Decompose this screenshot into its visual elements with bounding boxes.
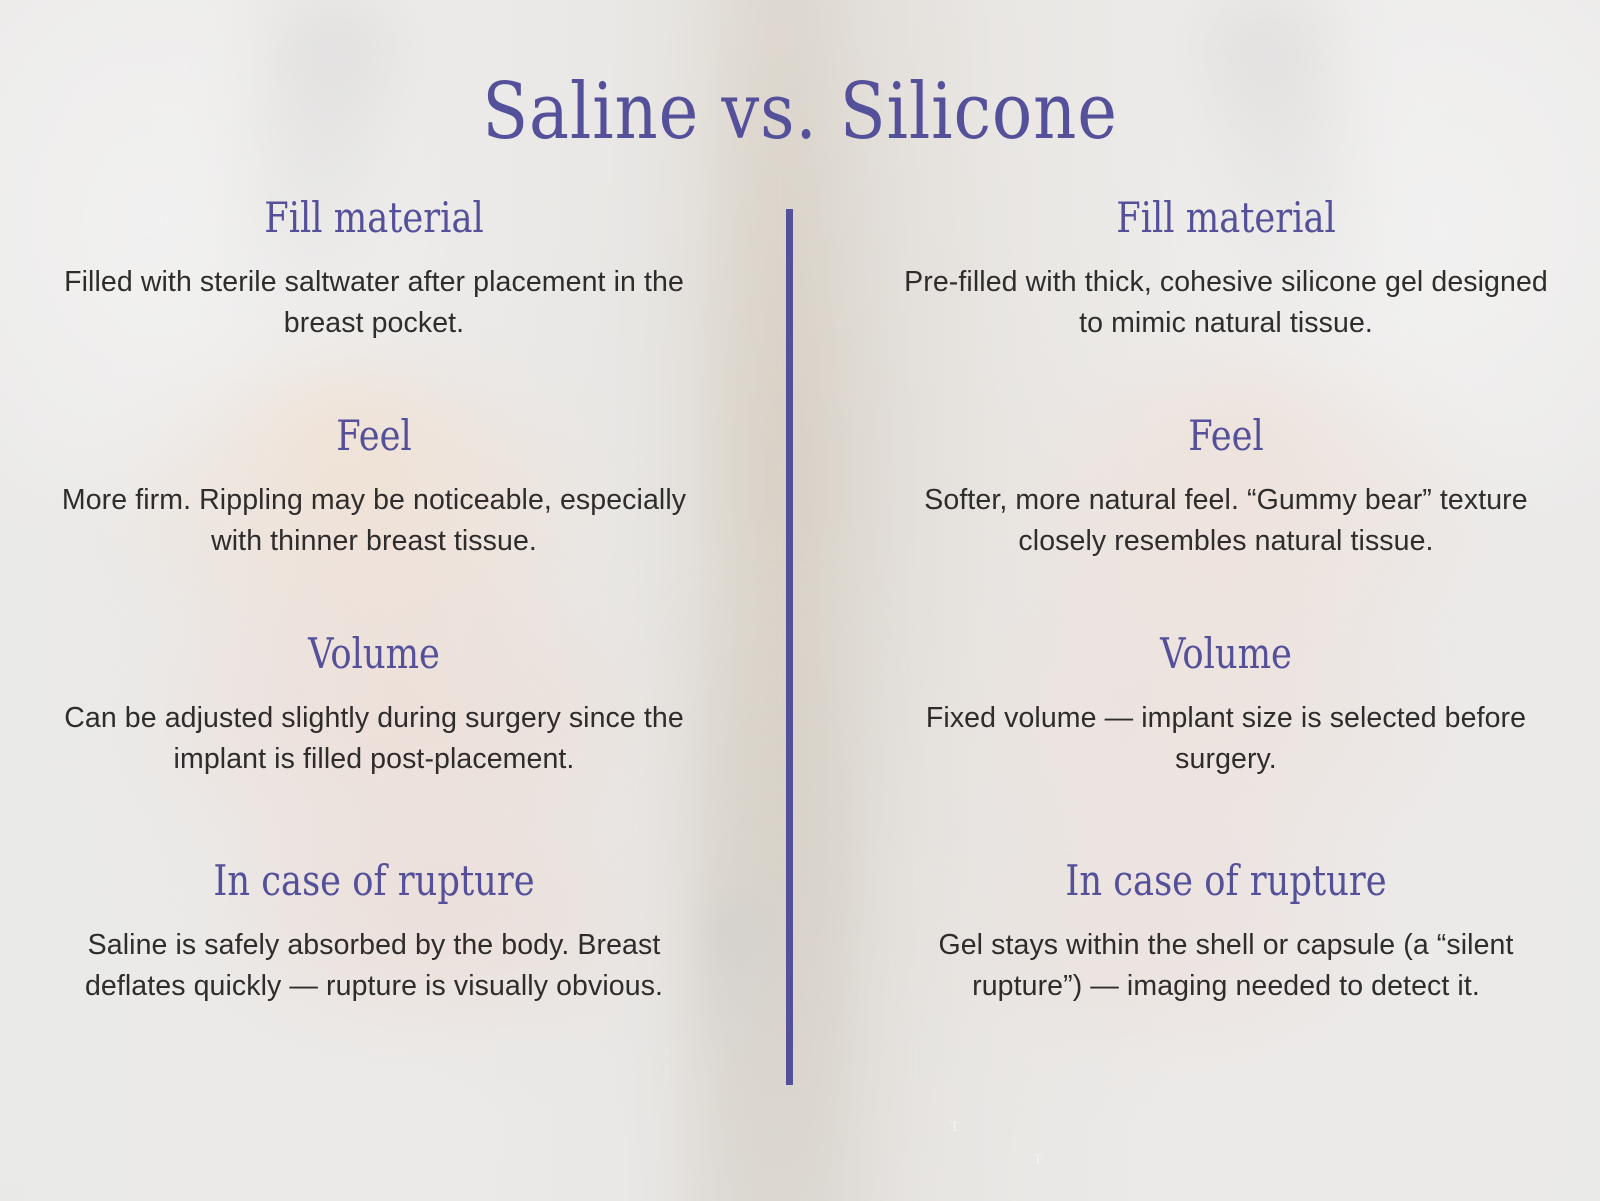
infographic-poster: Saline vs. Silicone Fill material Filled…	[0, 0, 1600, 1201]
silicone-body-fill-material: Pre-filled with thick, cohesive silicone…	[896, 262, 1556, 343]
saline-block-feel: Feel More firm. Rippling may be noticeab…	[44, 414, 704, 561]
silicone-heading-fill-material: Fill material	[949, 196, 1503, 240]
silicone-block-fill-material: Fill material Pre-filled with thick, coh…	[896, 196, 1556, 343]
saline-heading-feel: Feel	[97, 414, 651, 458]
saline-body-feel: More firm. Rippling may be noticeable, e…	[44, 480, 704, 561]
silicone-body-feel: Softer, more natural feel. “Gummy bear” …	[896, 480, 1556, 561]
saline-block-volume: Volume Can be adjusted slightly during s…	[44, 632, 704, 779]
page-title: Saline vs. Silicone	[112, 73, 1488, 151]
watermark-glyph-1: T	[950, 1120, 959, 1135]
silicone-block-rupture: In case of rupture Gel stays within the …	[896, 859, 1556, 1006]
column-silicone: Fill material Pre-filled with thick, coh…	[800, 196, 1600, 1006]
column-saline: Fill material Filled with sterile saltwa…	[0, 196, 800, 1006]
silicone-heading-rupture: In case of rupture	[949, 859, 1503, 903]
saline-heading-fill-material: Fill material	[97, 196, 651, 240]
silicone-heading-feel: Feel	[949, 414, 1503, 458]
silicone-block-volume: Volume Fixed volume — implant size is se…	[896, 632, 1556, 779]
silicone-body-rupture: Gel stays within the shell or capsule (a…	[896, 925, 1556, 1006]
saline-body-fill-material: Filled with sterile saltwater after plac…	[44, 262, 704, 343]
comparison-columns: Fill material Filled with sterile saltwa…	[0, 196, 1600, 1006]
watermark-glyph-2: T	[1034, 1152, 1042, 1165]
saline-heading-rupture: In case of rupture	[97, 859, 651, 903]
silicone-body-volume: Fixed volume — implant size is selected …	[896, 698, 1556, 779]
saline-body-rupture: Saline is safely absorbed by the body. B…	[44, 925, 704, 1006]
saline-body-volume: Can be adjusted slightly during surgery …	[44, 698, 704, 779]
saline-block-fill-material: Fill material Filled with sterile saltwa…	[44, 196, 704, 343]
saline-heading-volume: Volume	[97, 632, 651, 676]
saline-block-rupture: In case of rupture Saline is safely abso…	[44, 859, 704, 1006]
silicone-block-feel: Feel Softer, more natural feel. “Gummy b…	[896, 414, 1556, 561]
poster-content: Saline vs. Silicone Fill material Filled…	[0, 0, 1600, 1201]
silicone-heading-volume: Volume	[949, 632, 1503, 676]
